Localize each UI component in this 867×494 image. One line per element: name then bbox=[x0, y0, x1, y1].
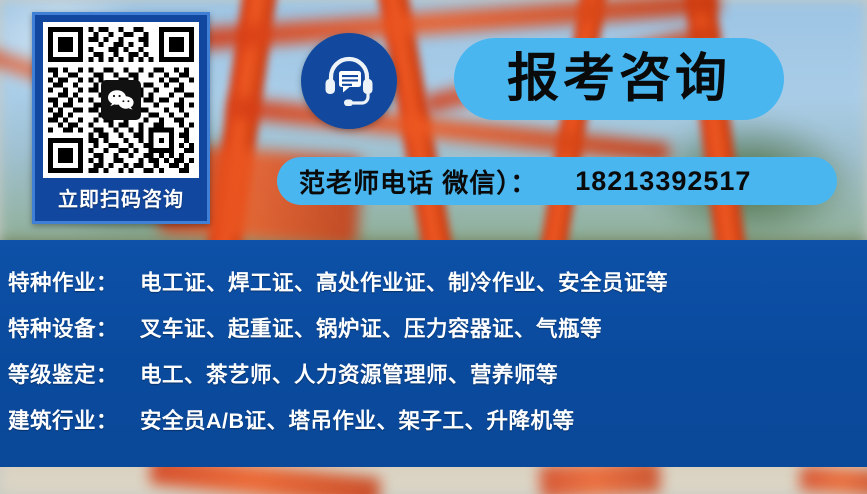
qr-code-card[interactable]: 立即扫码咨询 bbox=[32, 12, 210, 224]
title-pill-label: 报考咨询 bbox=[507, 53, 731, 105]
wechat-glyph bbox=[107, 89, 135, 111]
info-row-value: 电工、茶艺师、人力资源管理师、营养师等 bbox=[140, 358, 558, 389]
qr-caption: 立即扫码咨询 bbox=[35, 183, 207, 212]
qr-code-image bbox=[43, 22, 199, 178]
info-row-label: 建筑行业： bbox=[8, 404, 140, 435]
info-row-label: 特种作业： bbox=[8, 266, 140, 297]
info-row-value: 电工证、焊工证、高处作业证、制冷作业、安全员证等 bbox=[140, 266, 668, 297]
info-row-label: 特种设备： bbox=[8, 312, 140, 343]
info-panel: 特种作业： 电工证、焊工证、高处作业证、制冷作业、安全员证等 特种设备： 叉车证… bbox=[0, 240, 867, 467]
wechat-icon bbox=[101, 80, 141, 120]
headset-chat-icon[interactable] bbox=[301, 33, 397, 129]
info-row: 等级鉴定： 电工、茶艺师、人力资源管理师、营养师等 bbox=[8, 358, 867, 404]
info-row-value: 叉车证、起重证、锅炉证、压力容器证、气瓶等 bbox=[140, 312, 602, 343]
info-row-label: 等级鉴定： bbox=[8, 358, 140, 389]
info-row: 特种设备： 叉车证、起重证、锅炉证、压力容器证、气瓶等 bbox=[8, 312, 867, 358]
contact-pill[interactable]: 范老师电话 微信）： 18213392517 bbox=[277, 157, 837, 205]
info-row-list: 特种作业： 电工证、焊工证、高处作业证、制冷作业、安全员证等 特种设备： 叉车证… bbox=[0, 240, 867, 450]
foreground-machine bbox=[799, 465, 867, 494]
headset-glyph bbox=[320, 52, 378, 110]
contact-label: 范老师电话 微信）： bbox=[299, 163, 537, 200]
title-pill[interactable]: 报考咨询 bbox=[454, 38, 784, 120]
info-row: 特种作业： 电工证、焊工证、高处作业证、制冷作业、安全员证等 bbox=[8, 266, 867, 312]
promo-poster: 立即扫码咨询 报考咨询 范老师电话 微信）： 18213392517 bbox=[0, 0, 867, 494]
info-row-value: 安全员A/B证、塔吊作业、架子工、升降机等 bbox=[140, 404, 575, 435]
contact-phone-number[interactable]: 18213392517 bbox=[575, 166, 751, 197]
info-row: 建筑行业： 安全员A/B证、塔吊作业、架子工、升降机等 bbox=[8, 404, 867, 450]
